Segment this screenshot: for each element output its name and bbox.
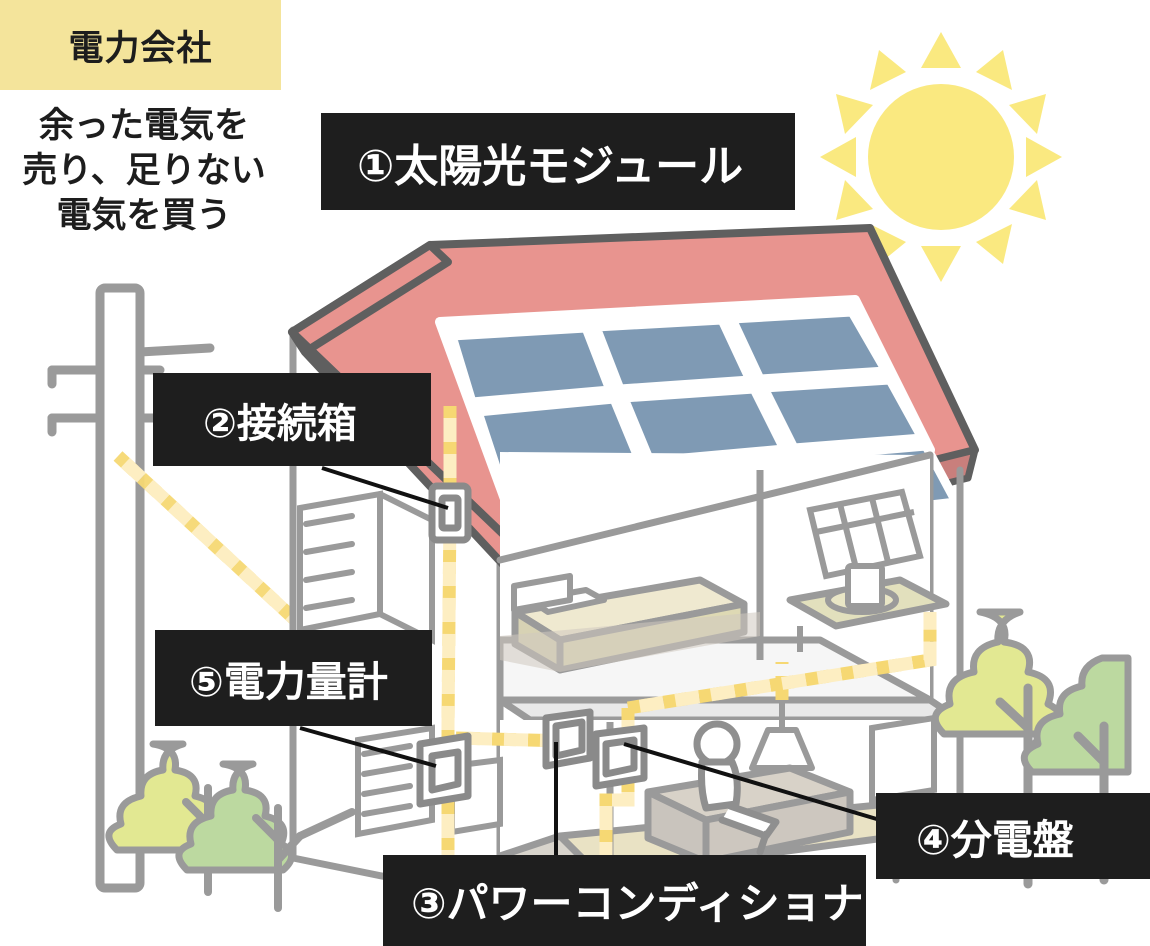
callout-watt-hour-meter-label: ⑤電力量計 [155, 648, 432, 708]
callout-solar-module: ①太陽光モジュール [321, 113, 795, 210]
solar-system-diagram: 電力会社 余った電気を 売り、足りない 電気を買う ①太陽光モジュール ②接続箱… [0, 0, 1150, 946]
callout-distribution-board: ④分電盤 [876, 793, 1150, 879]
callout-distribution-board-label: ④分電盤 [876, 806, 1150, 866]
callout-watt-hour-meter: ⑤電力量計 [155, 630, 432, 726]
callout-junction-box: ②接続箱 [153, 373, 431, 466]
callout-power-conditioner: ③パワーコンディショナ [383, 855, 866, 946]
callout-solar-module-label: ①太陽光モジュール [321, 130, 795, 194]
callout-junction-box-label: ②接続箱 [153, 391, 431, 449]
callout-power-conditioner-label: ③パワーコンディショナ [383, 870, 866, 931]
leader-line-5 [300, 728, 436, 766]
leader-line-2 [322, 468, 448, 508]
leader-line-4 [624, 744, 880, 820]
